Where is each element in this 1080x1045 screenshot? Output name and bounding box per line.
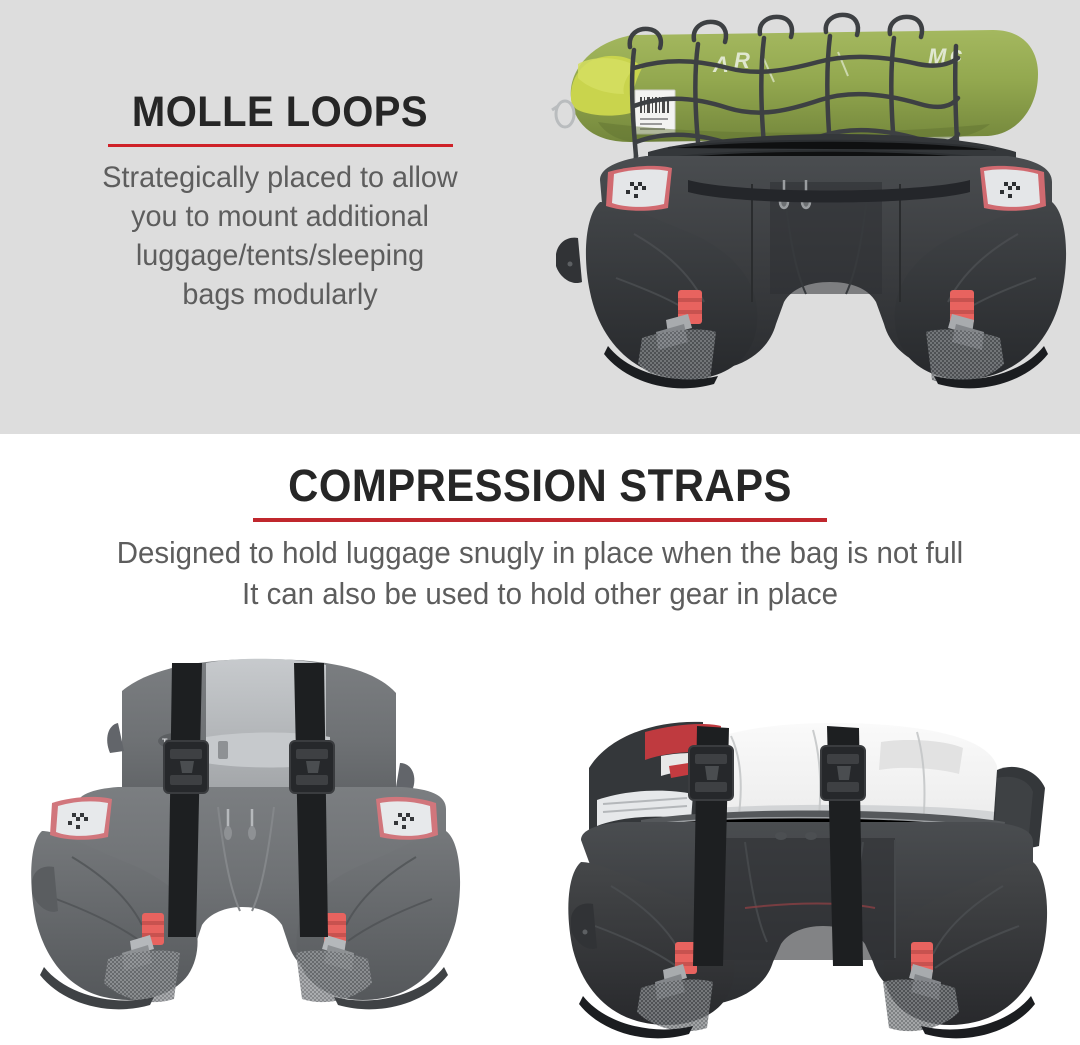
compression-body-line-1: Designed to hold luggage snugly in place… — [117, 535, 963, 570]
infographic-page: MOLLE LOOPS Strategically placed to allo… — [0, 0, 1080, 1045]
molle-loops-heading: MOLLE LOOPS — [38, 90, 522, 135]
reflective-patch-left — [606, 166, 672, 211]
compression-straps-right-image — [545, 670, 1065, 1045]
compression-body-line-2: It can also be used to hold other gear i… — [242, 576, 838, 611]
molle-loops-body: Strategically placed to allow you to mou… — [30, 158, 529, 314]
compression-straps-left-image: T — [30, 645, 540, 1045]
molle-body-line-2: you to mount additional — [131, 200, 429, 233]
reflective-patch-right — [376, 797, 438, 840]
molle-loops-product-image: AR Mc — [538, 2, 1080, 432]
compression-straps-body: Designed to hold luggage snugly in place… — [27, 532, 1053, 614]
molle-body-line-3: luggage/tents/sleeping — [136, 239, 424, 272]
compression-straps-underline — [253, 518, 827, 522]
saddlebag-grey — [31, 787, 460, 1009]
molle-body-line-1: Strategically placed to allow — [102, 161, 457, 194]
reflective-patch-right — [980, 166, 1046, 211]
molle-loops-underline — [108, 144, 453, 147]
molle-body-line-4: bags modularly — [182, 278, 377, 311]
carabiner-clip — [552, 101, 574, 127]
compression-straps-copy-block: COMPRESSION STRAPS Designed to hold lugg… — [0, 462, 1080, 615]
saddlebag-black — [556, 134, 1066, 388]
molle-loops-copy-block: MOLLE LOOPS Strategically placed to allo… — [20, 90, 540, 314]
saddlebag-black-2 — [568, 822, 1047, 1038]
green-tent-roll: AR Mc — [552, 30, 1038, 142]
reflective-patch-left — [50, 797, 112, 840]
compression-straps-heading: COMPRESSION STRAPS — [38, 462, 1042, 509]
